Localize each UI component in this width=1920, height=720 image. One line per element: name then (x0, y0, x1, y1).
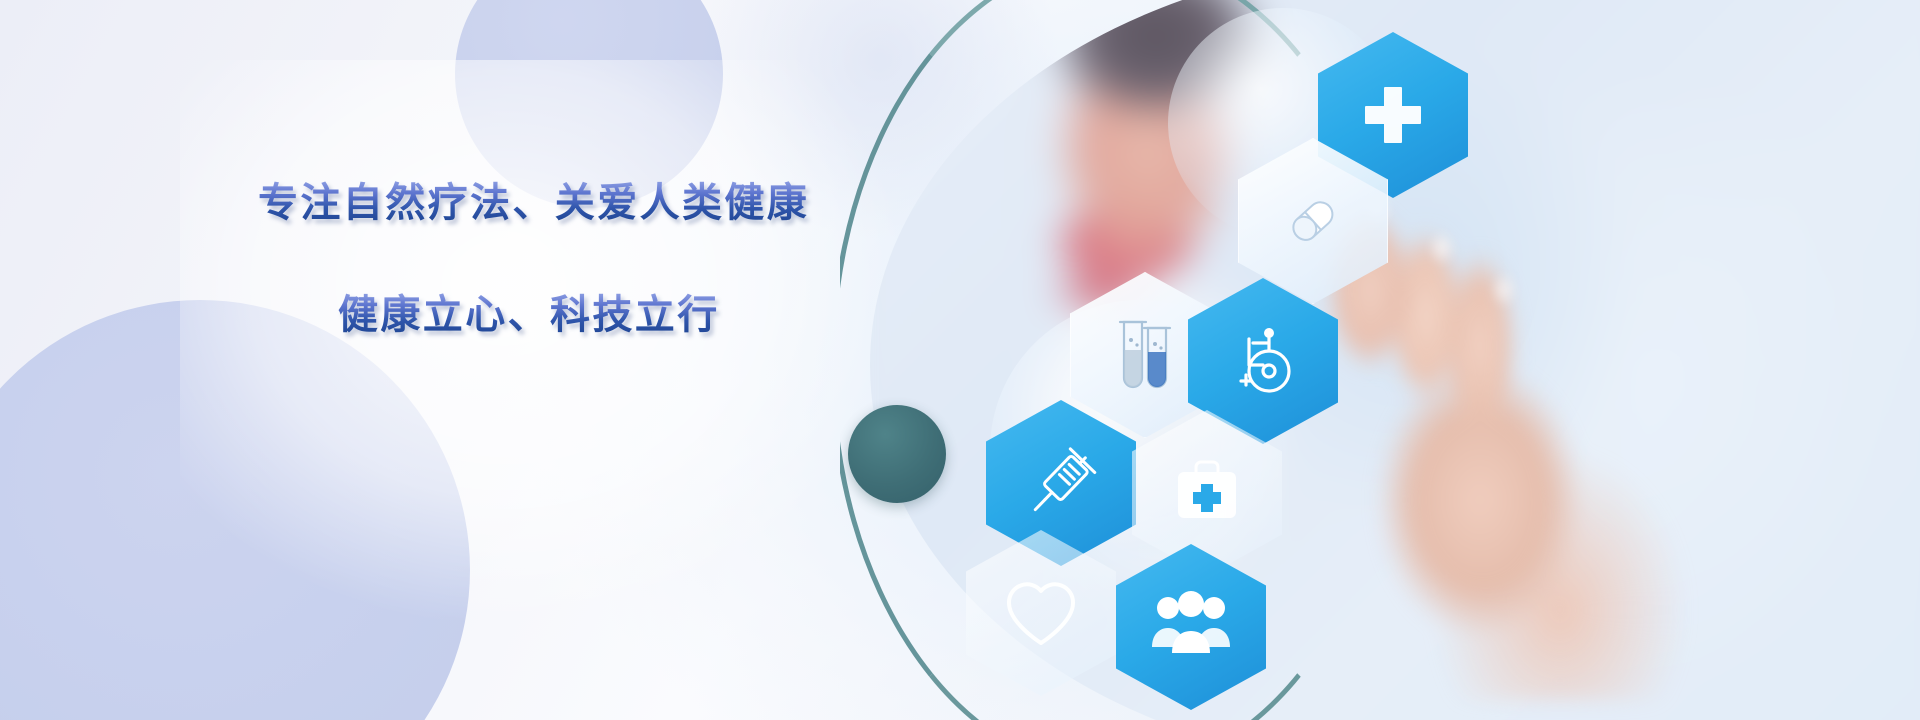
heart-icon (1001, 577, 1081, 649)
wheelchair-icon (1223, 321, 1303, 401)
headline-block: 专注自然疗法、关爱人类健康 健康立心、科技立行 (258, 180, 898, 338)
syringe-icon (1018, 440, 1104, 526)
hex-heart[interactable] (966, 530, 1116, 696)
hero-image-zone (840, 0, 1920, 720)
hero-banner: 专注自然疗法、关爱人类健康 健康立心、科技立行 (0, 0, 1920, 720)
decorative-circle-top (455, 0, 723, 208)
headline-line-1: 专注自然疗法、关爱人类健康 (258, 180, 898, 226)
hex-people-group[interactable] (1116, 544, 1266, 710)
decorative-circle-bottom (0, 300, 470, 720)
people-group-icon (1148, 591, 1234, 663)
test-tubes-icon (1108, 314, 1182, 396)
medical-cross-icon (1358, 80, 1428, 150)
hex-icon-cluster (920, 10, 1640, 710)
first-aid-kit-icon (1168, 456, 1246, 530)
capsule-pill-icon (1275, 183, 1351, 259)
headline-line-2: 健康立心、科技立行 (338, 292, 898, 338)
